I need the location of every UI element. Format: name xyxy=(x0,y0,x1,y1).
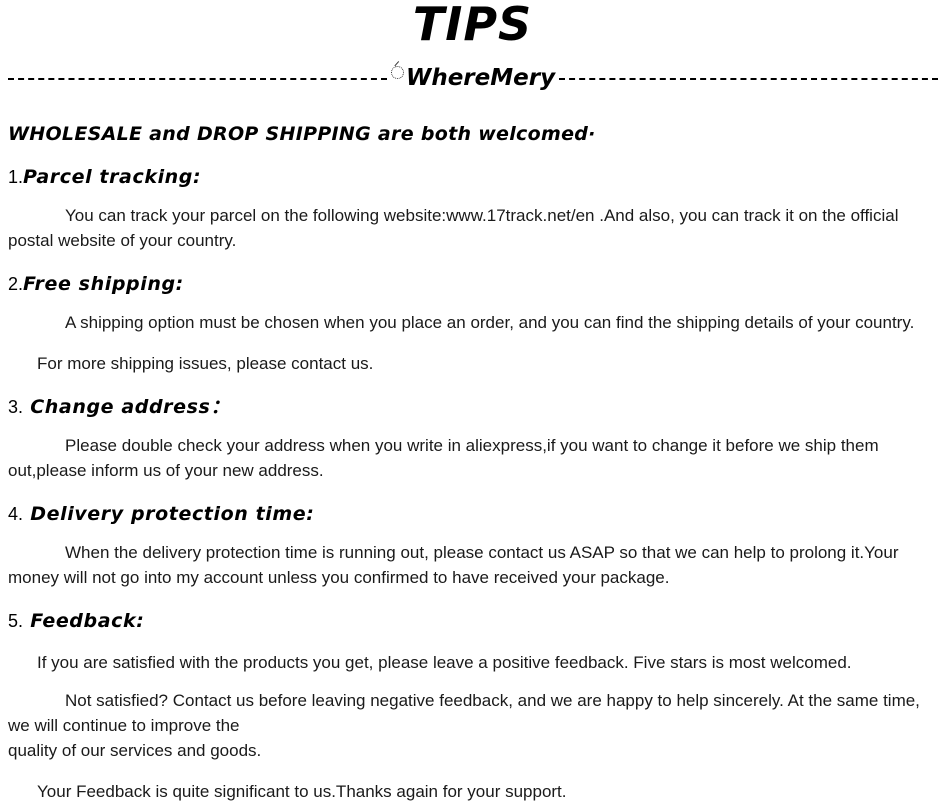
curl-circle-ornament-icon xyxy=(389,64,405,80)
section-paragraph: When the delivery protection time is run… xyxy=(8,540,933,590)
brand-logo: WhereMery xyxy=(387,65,559,91)
section-paragraph: A shipping option must be chosen when yo… xyxy=(8,310,933,335)
section-number: 2. xyxy=(8,274,23,294)
section-title: Delivery protection time: xyxy=(23,503,314,525)
page-title: TIPS xyxy=(0,0,945,50)
divider-line-left xyxy=(8,78,387,80)
tips-document-page: TIPS WhereMery WHOLESALE and DROP SHIPPI… xyxy=(0,0,945,794)
section-title: Parcel tracking: xyxy=(23,166,201,188)
section-title: Feedback: xyxy=(23,610,144,632)
section-paragraph: For more shipping issues, please contact… xyxy=(8,351,933,376)
divider-line-right xyxy=(559,78,938,80)
brand-name: WhereMery xyxy=(406,65,555,91)
section-number: 1. xyxy=(8,167,23,187)
section-title: Free shipping: xyxy=(23,273,184,295)
section-number: 3. xyxy=(8,397,23,417)
section-paragraph: quality of our services and goods. xyxy=(8,738,933,763)
section-paragraph: Not satisfied? Contact us before leaving… xyxy=(8,688,933,738)
section-title: Change address： xyxy=(23,396,230,418)
section-heading-change-address: 3. Change address： xyxy=(8,395,937,420)
section-heading-delivery-protection-time: 4. Delivery protection time: xyxy=(8,502,937,527)
lead-statement: WHOLESALE and DROP SHIPPING are both wel… xyxy=(8,122,937,146)
section-heading-free-shipping: 2.Free shipping: xyxy=(8,272,937,297)
section-number: 5. xyxy=(8,611,23,631)
section-paragraph: Please double check your address when yo… xyxy=(8,433,933,483)
section-paragraph: Your Feedback is quite significant to us… xyxy=(8,779,933,804)
section-heading-feedback: 5. Feedback: xyxy=(8,609,937,634)
section-paragraph: You can track your parcel on the followi… xyxy=(8,203,933,253)
document-header: TIPS WhereMery xyxy=(0,0,945,100)
section-paragraph: If you are satisfied with the products y… xyxy=(8,650,933,675)
section-heading-parcel-tracking: 1.Parcel tracking: xyxy=(8,165,937,190)
brand-divider-row: WhereMery xyxy=(0,62,945,94)
document-content: WHOLESALE and DROP SHIPPING are both wel… xyxy=(0,122,945,804)
section-number: 4. xyxy=(8,504,23,524)
